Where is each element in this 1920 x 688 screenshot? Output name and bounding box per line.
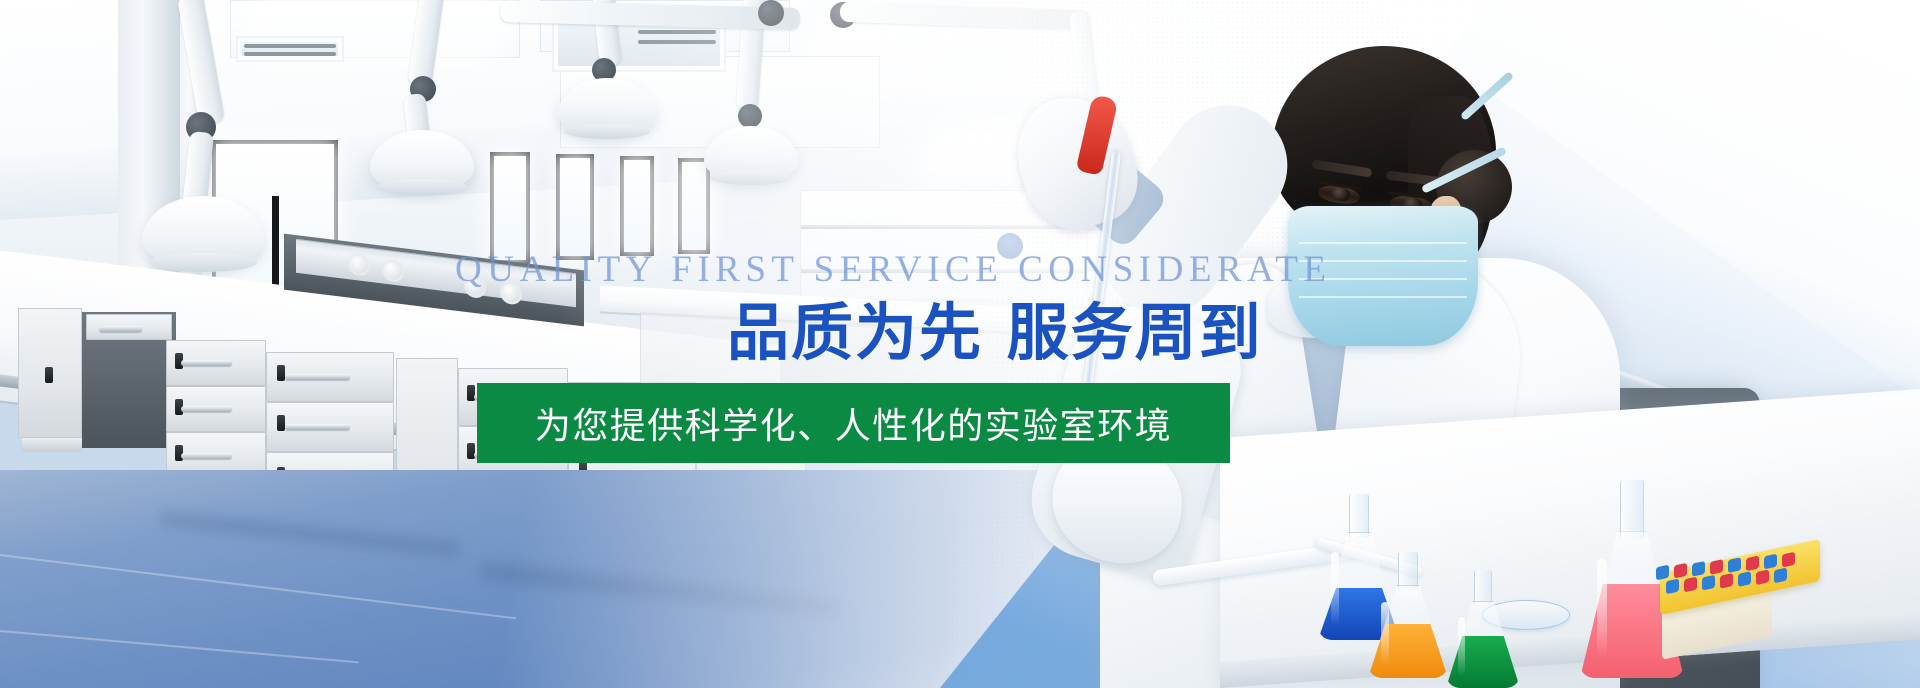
banner-eyebrow-text: QUALITY FIRST SERVICE CONSIDERATE [455, 251, 1331, 288]
banner-text-block: QUALITY FIRST SERVICE CONSIDERATE 品质为先 服… [0, 0, 1920, 688]
banner-headline: 品质为先 服务周到 [727, 300, 1263, 365]
banner-subtitle-bar: 为您提供科学化、人性化的实验室环境 [477, 383, 1230, 463]
banner-subtitle-text: 为您提供科学化、人性化的实验室环境 [535, 397, 1173, 449]
hero-banner: QUALITY FIRST SERVICE CONSIDERATE 品质为先 服… [0, 0, 1920, 688]
